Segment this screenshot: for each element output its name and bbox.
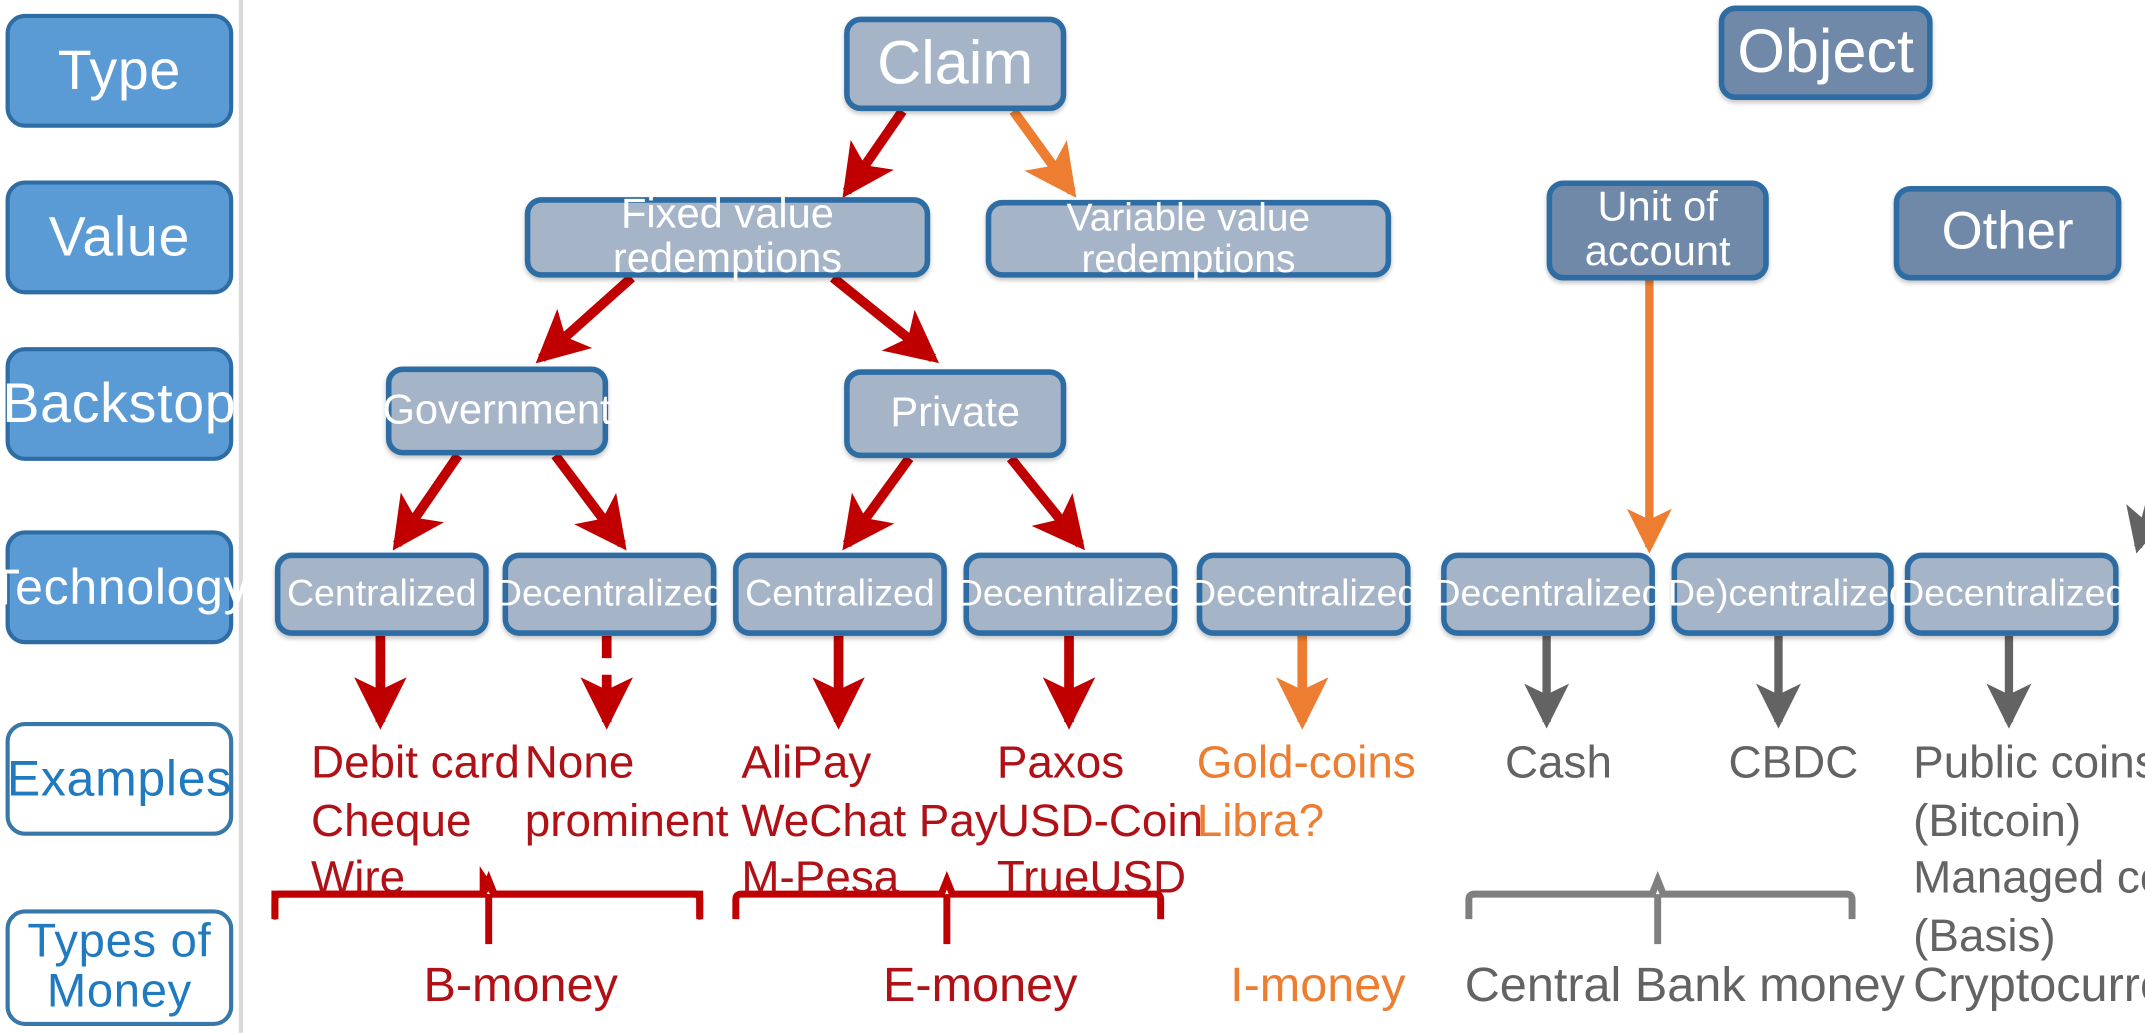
rail-label-technology: Technology	[0, 561, 249, 613]
arrow-priv-to-decentralized	[1011, 458, 1080, 544]
type-of-money-e-money: E-money	[883, 955, 1077, 1016]
node-private-label: Private	[890, 391, 1020, 436]
node-tech-gov-decentralized-label: Decentralized	[495, 574, 724, 614]
rail-item-types-of-money[interactable]: Types of Money	[6, 909, 234, 1026]
node-claim-label: Claim	[877, 31, 1033, 97]
arrow-priv-to-centralized	[847, 458, 909, 544]
node-tech-gov-centralized-label: Centralized	[287, 574, 477, 614]
node-tech-other-decentralized[interactable]: Decentralized	[1905, 553, 2119, 636]
type-of-money-b-money: B-money	[423, 955, 617, 1016]
examples-cash: Cash	[1505, 733, 1612, 791]
examples-e-decentralized: Paxos USD-Coin TrueUSD	[997, 733, 1203, 906]
node-tech-uoa-decentralized-label: Decentralized	[1433, 574, 1662, 614]
node-unit-of-account-label: Unit of account	[1585, 185, 1731, 275]
node-tech-private-centralized-label: Centralized	[745, 574, 935, 614]
rail-item-value[interactable]: Value	[6, 180, 234, 294]
node-tech-uoa-decentralized[interactable]: Decentralized	[1441, 553, 1655, 636]
node-object-label: Object	[1737, 20, 1914, 86]
node-tech-private-decentralized-label: Decentralized	[956, 574, 1185, 614]
diagram-canvas: Type Value Backstop Technology Examples …	[0, 0, 2145, 1033]
node-variable-value-label: Variable value redemptions	[991, 197, 1385, 281]
rail-item-backstop[interactable]: Backstop	[6, 347, 234, 461]
rail-label-type: Type	[58, 42, 181, 100]
rail-label-types-of-money: Types of Money	[10, 918, 229, 1017]
arrow-gov-to-centralized	[397, 455, 458, 544]
arrow-gov-to-decentralized	[555, 455, 622, 544]
arrow-fixed-to-government	[541, 278, 631, 359]
node-tech-gov-decentralized[interactable]: Decentralized	[503, 553, 717, 636]
node-tech-variable-decentralized[interactable]: Decentralized	[1197, 553, 1411, 636]
rail-label-examples: Examples	[7, 753, 232, 805]
node-claim[interactable]: Claim	[844, 17, 1066, 111]
node-private[interactable]: Private	[844, 369, 1066, 458]
arrow-fixed-to-private	[833, 278, 933, 359]
rail-item-examples[interactable]: Examples	[6, 722, 234, 836]
rail-item-type[interactable]: Type	[6, 14, 234, 128]
examples-i-money: Gold-coins Libra?	[1197, 733, 1416, 848]
examples-b-centralized: Debit card Cheque Wire	[311, 733, 520, 906]
examples-e-centralized: AliPay WeChat Pay M-Pesa	[741, 733, 997, 906]
rail-item-technology[interactable]: Technology	[6, 530, 234, 644]
examples-cbdc: CBDC	[1728, 733, 1858, 791]
node-tech-variable-decentralized-label: Decentralized	[1189, 574, 1418, 614]
arrow-claim-to-fixed	[847, 111, 903, 192]
node-tech-other-decentralized-label: Decentralized	[1897, 574, 2126, 614]
type-of-money-i-money: I-money	[1230, 955, 1406, 1016]
node-fixed-value-redemptions[interactable]: Fixed value redemptions	[525, 197, 930, 278]
node-tech-gov-centralized[interactable]: Centralized	[275, 553, 489, 636]
rail-label-backstop: Backstop	[2, 375, 236, 433]
node-tech-private-decentralized[interactable]: Decentralized	[964, 553, 1178, 636]
node-government-label: Government	[382, 388, 611, 433]
node-fixed-value-label: Fixed value redemptions	[530, 192, 924, 282]
type-of-money-cryptocurrency: Cryptocurrency	[1913, 955, 2145, 1016]
brace-central-bank-shape	[1469, 880, 1852, 919]
arrow-claim-to-variable	[1013, 111, 1071, 192]
node-tech-uoa-de-centralized[interactable]: (De)centralized	[1672, 553, 1894, 636]
examples-cryptocurrency: Public coins (Bitcoin) Managed coins (Ba…	[1913, 733, 2145, 964]
rail-label-value: Value	[49, 208, 190, 266]
node-unit-of-account[interactable]: Unit of account	[1547, 180, 1769, 280]
rail-divider	[239, 0, 243, 1033]
examples-b-decentralized: None prominent	[525, 733, 729, 848]
node-other-label: Other	[1942, 205, 2074, 262]
node-tech-private-centralized[interactable]: Centralized	[733, 553, 947, 636]
node-object[interactable]: Object	[1719, 6, 1933, 100]
node-variable-value-redemptions[interactable]: Variable value redemptions	[986, 200, 1391, 278]
arrow-unit-to-decentralized	[2138, 278, 2145, 547]
type-of-money-central-bank-money: Central Bank money	[1465, 955, 1905, 1016]
node-government[interactable]: Government	[386, 367, 608, 456]
node-other[interactable]: Other	[1894, 186, 2122, 280]
node-tech-uoa-de-centralized-label: (De)centralized	[1656, 574, 1910, 614]
